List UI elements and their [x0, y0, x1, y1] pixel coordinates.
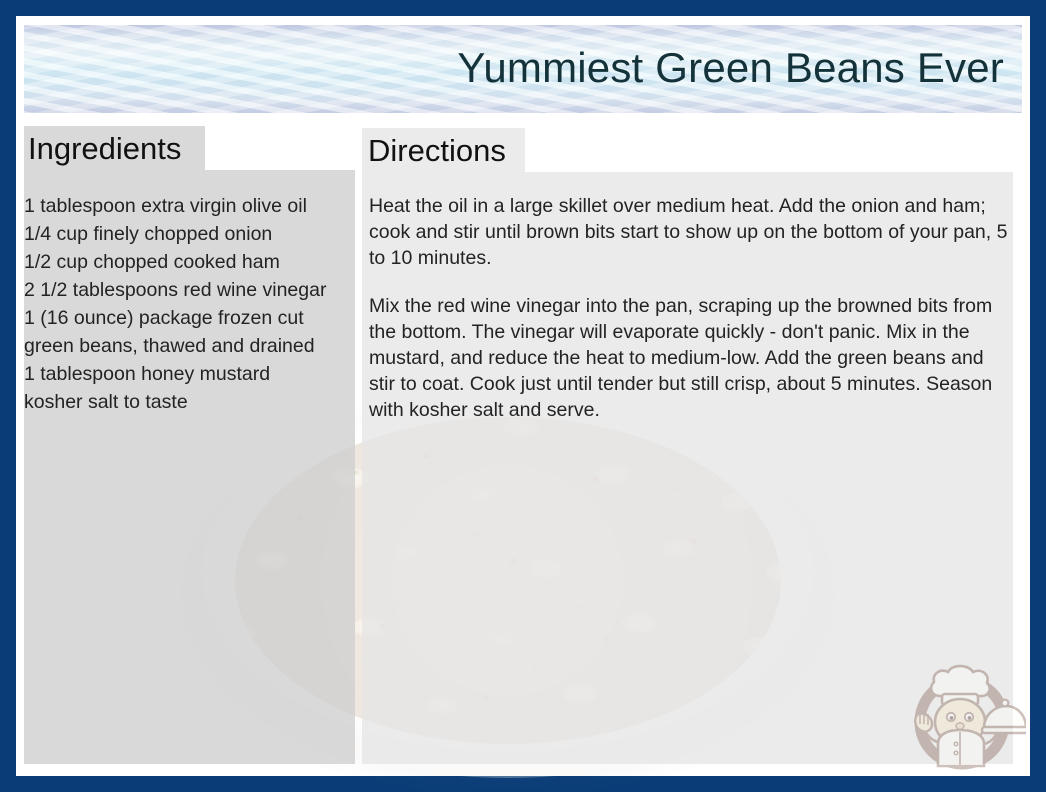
list-item: 1 tablespoon extra virgin olive oil — [24, 192, 354, 220]
frame-border-right — [1030, 0, 1046, 792]
frame-border-top — [0, 0, 1046, 16]
ingredients-list: 1 tablespoon extra virgin olive oil 1/4 … — [24, 192, 354, 416]
title-banner: Yummiest Green Beans Ever — [24, 25, 1022, 113]
directions-paragraph: Mix the red wine vinegar into the pan, s… — [369, 293, 1009, 423]
directions-text: Heat the oil in a large skillet over med… — [369, 193, 1009, 423]
recipe-slide: Yummiest Green Beans Ever Ingredients 1 … — [0, 0, 1046, 792]
list-item: 1/4 cup finely chopped onion — [24, 220, 354, 248]
list-item: 1 (16 ounce) package frozen cut green be… — [24, 304, 354, 360]
list-item: kosher salt to taste — [24, 388, 354, 416]
list-item: 1/2 cup chopped cooked ham — [24, 248, 354, 276]
frame-border-bottom — [0, 776, 1046, 792]
chef-logo-icon — [898, 648, 1026, 776]
list-item: 1 tablespoon honey mustard — [24, 360, 354, 388]
list-item: 2 1/2 tablespoons red wine vinegar — [24, 276, 354, 304]
page-title: Yummiest Green Beans Ever — [457, 47, 1004, 89]
ingredients-heading: Ingredients — [28, 133, 181, 164]
directions-paragraph: Heat the oil in a large skillet over med… — [369, 193, 1009, 271]
directions-heading: Directions — [368, 135, 506, 166]
frame-border-left — [0, 0, 16, 792]
